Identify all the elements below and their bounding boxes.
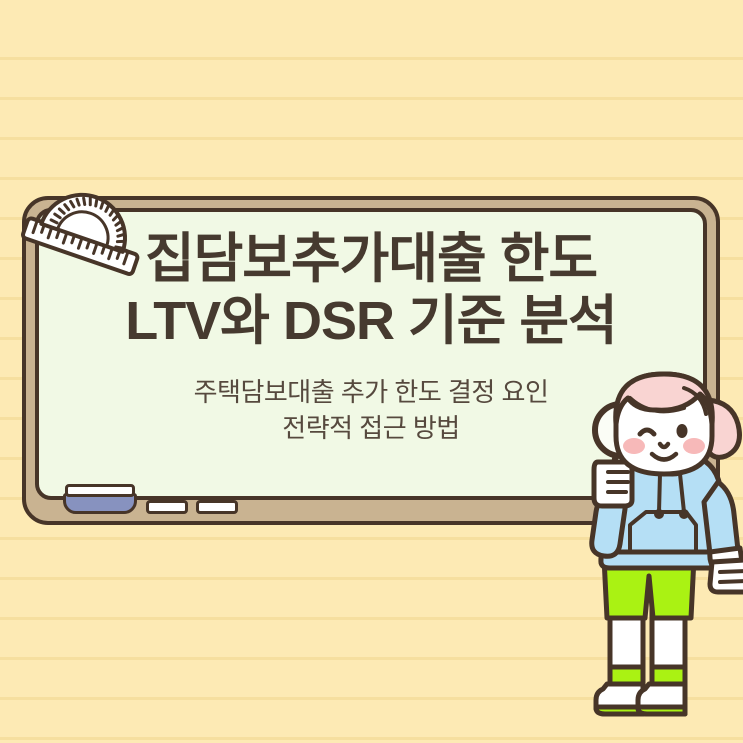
eraser-felt [65,484,135,497]
thumbnail-canvas: 집담보추가대출 한도 LTV와 DSR 기준 분석 주택담보대출 추가 한도 결… [0,0,743,743]
chalk-stick-icon [146,500,188,514]
character-svg [560,362,743,743]
protractor-ruler-icon [18,186,148,284]
chalk-stick-icon [196,500,238,514]
page-title: 집담보추가대출 한도 LTV와 DSR 기준 분석 [57,228,685,352]
girl-with-magnifier [560,362,743,743]
protractor-svg [18,186,148,284]
title-line-2: LTV와 DSR 기준 분석 [57,290,685,352]
board-eraser-icon [63,484,137,514]
title-line-1: 집담보추가대출 한도 [57,228,685,290]
